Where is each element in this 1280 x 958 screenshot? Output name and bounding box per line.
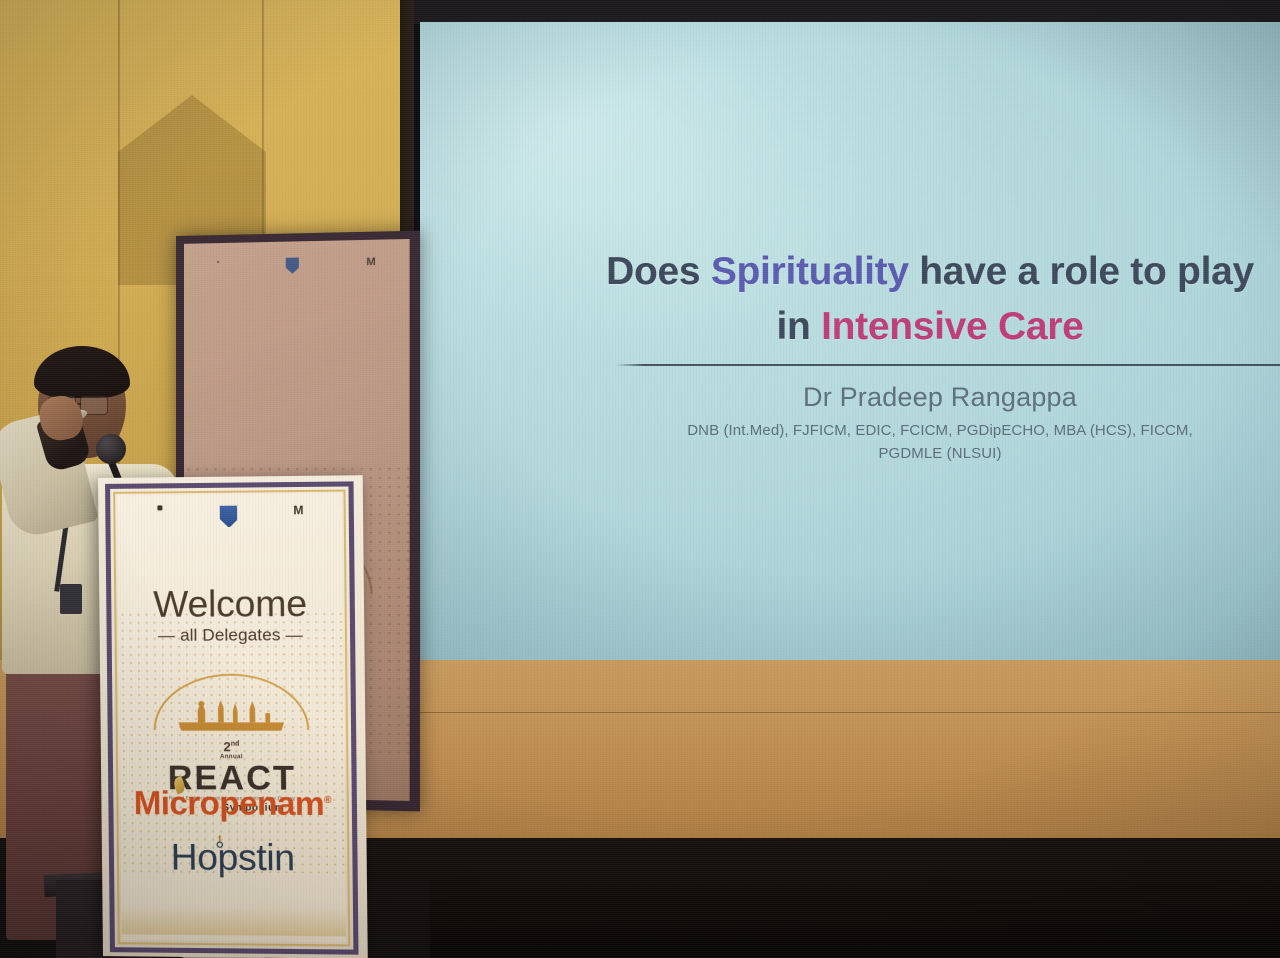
hopstin-mark-icon (214, 835, 225, 848)
sponsor-hopstin-logo: Hopstin (121, 836, 346, 880)
slide-credentials: DNB (Int.Med), FJFICM, EDIC, FCICM, PGDi… (600, 420, 1280, 465)
welcome-banner-bottom-gold (121, 906, 346, 936)
slide-title-divider (616, 364, 1280, 366)
sponsor-micropenam-logo: Micropenam® (120, 784, 345, 823)
welcome-banner-content: M Welcome — all Delegates — (117, 494, 346, 943)
microphone-icon (96, 434, 126, 464)
welcome-banner-logo-row: M (117, 504, 341, 530)
conference-photo-scene: Does Spirituality have a role to play in… (0, 0, 1280, 958)
slide-title-line2-prefix: in (776, 305, 821, 348)
react-skyline-icon (175, 698, 286, 732)
background-shield-logo-icon (286, 258, 299, 276)
hopstin-wordmark: Hopstin (171, 836, 295, 878)
lower-wall-seam (420, 712, 1280, 713)
speaker-badge (60, 584, 82, 614)
background-m-logo: M (366, 256, 375, 268)
presentation-slide: Does Spirituality have a role to play in… (420, 22, 1280, 662)
slide-title: Does Spirituality have a role to play in… (590, 244, 1270, 355)
welcome-banner: M Welcome — all Delegates — (98, 475, 368, 958)
welcome-heading: Welcome (118, 583, 343, 626)
slide-title-part2: have a role to play (909, 250, 1254, 293)
square-mark-icon (157, 505, 162, 510)
slide-credentials-line2: PGDMLE (NLSUI) (878, 445, 1001, 462)
shield-icon (219, 505, 238, 528)
background-partner-mark-left: ▪ (217, 259, 219, 267)
m-logo-right: M (270, 504, 327, 517)
speaker-hair (34, 346, 130, 398)
slide-title-spirituality: Spirituality (711, 250, 909, 293)
slide-title-part1: Does (606, 250, 711, 293)
micropenam-registered-mark: ® (324, 795, 331, 806)
slide-title-intensive-care: Intensive Care (821, 305, 1083, 348)
slide-credentials-line1: DNB (Int.Med), FJFICM, EDIC, FCICM, PGDi… (687, 422, 1193, 439)
partner-mark-left-icon (132, 505, 188, 513)
projection-screen: Does Spirituality have a role to play in… (420, 22, 1280, 662)
welcome-subheading: — all Delegates — (119, 625, 343, 646)
m-logo-icon: M (270, 504, 327, 517)
react-edition-number: 2nd (120, 740, 344, 753)
background-banner-logo-row: ▪ M (184, 255, 410, 278)
shield-icon (286, 258, 299, 274)
shield-logo-center (201, 505, 258, 530)
micropenam-wordmark: Micropenam (134, 784, 325, 822)
screen-top-trim (414, 0, 1280, 24)
m-logo-icon: M (366, 256, 375, 268)
slide-author: Dr Pradeep Rangappa (620, 382, 1260, 413)
